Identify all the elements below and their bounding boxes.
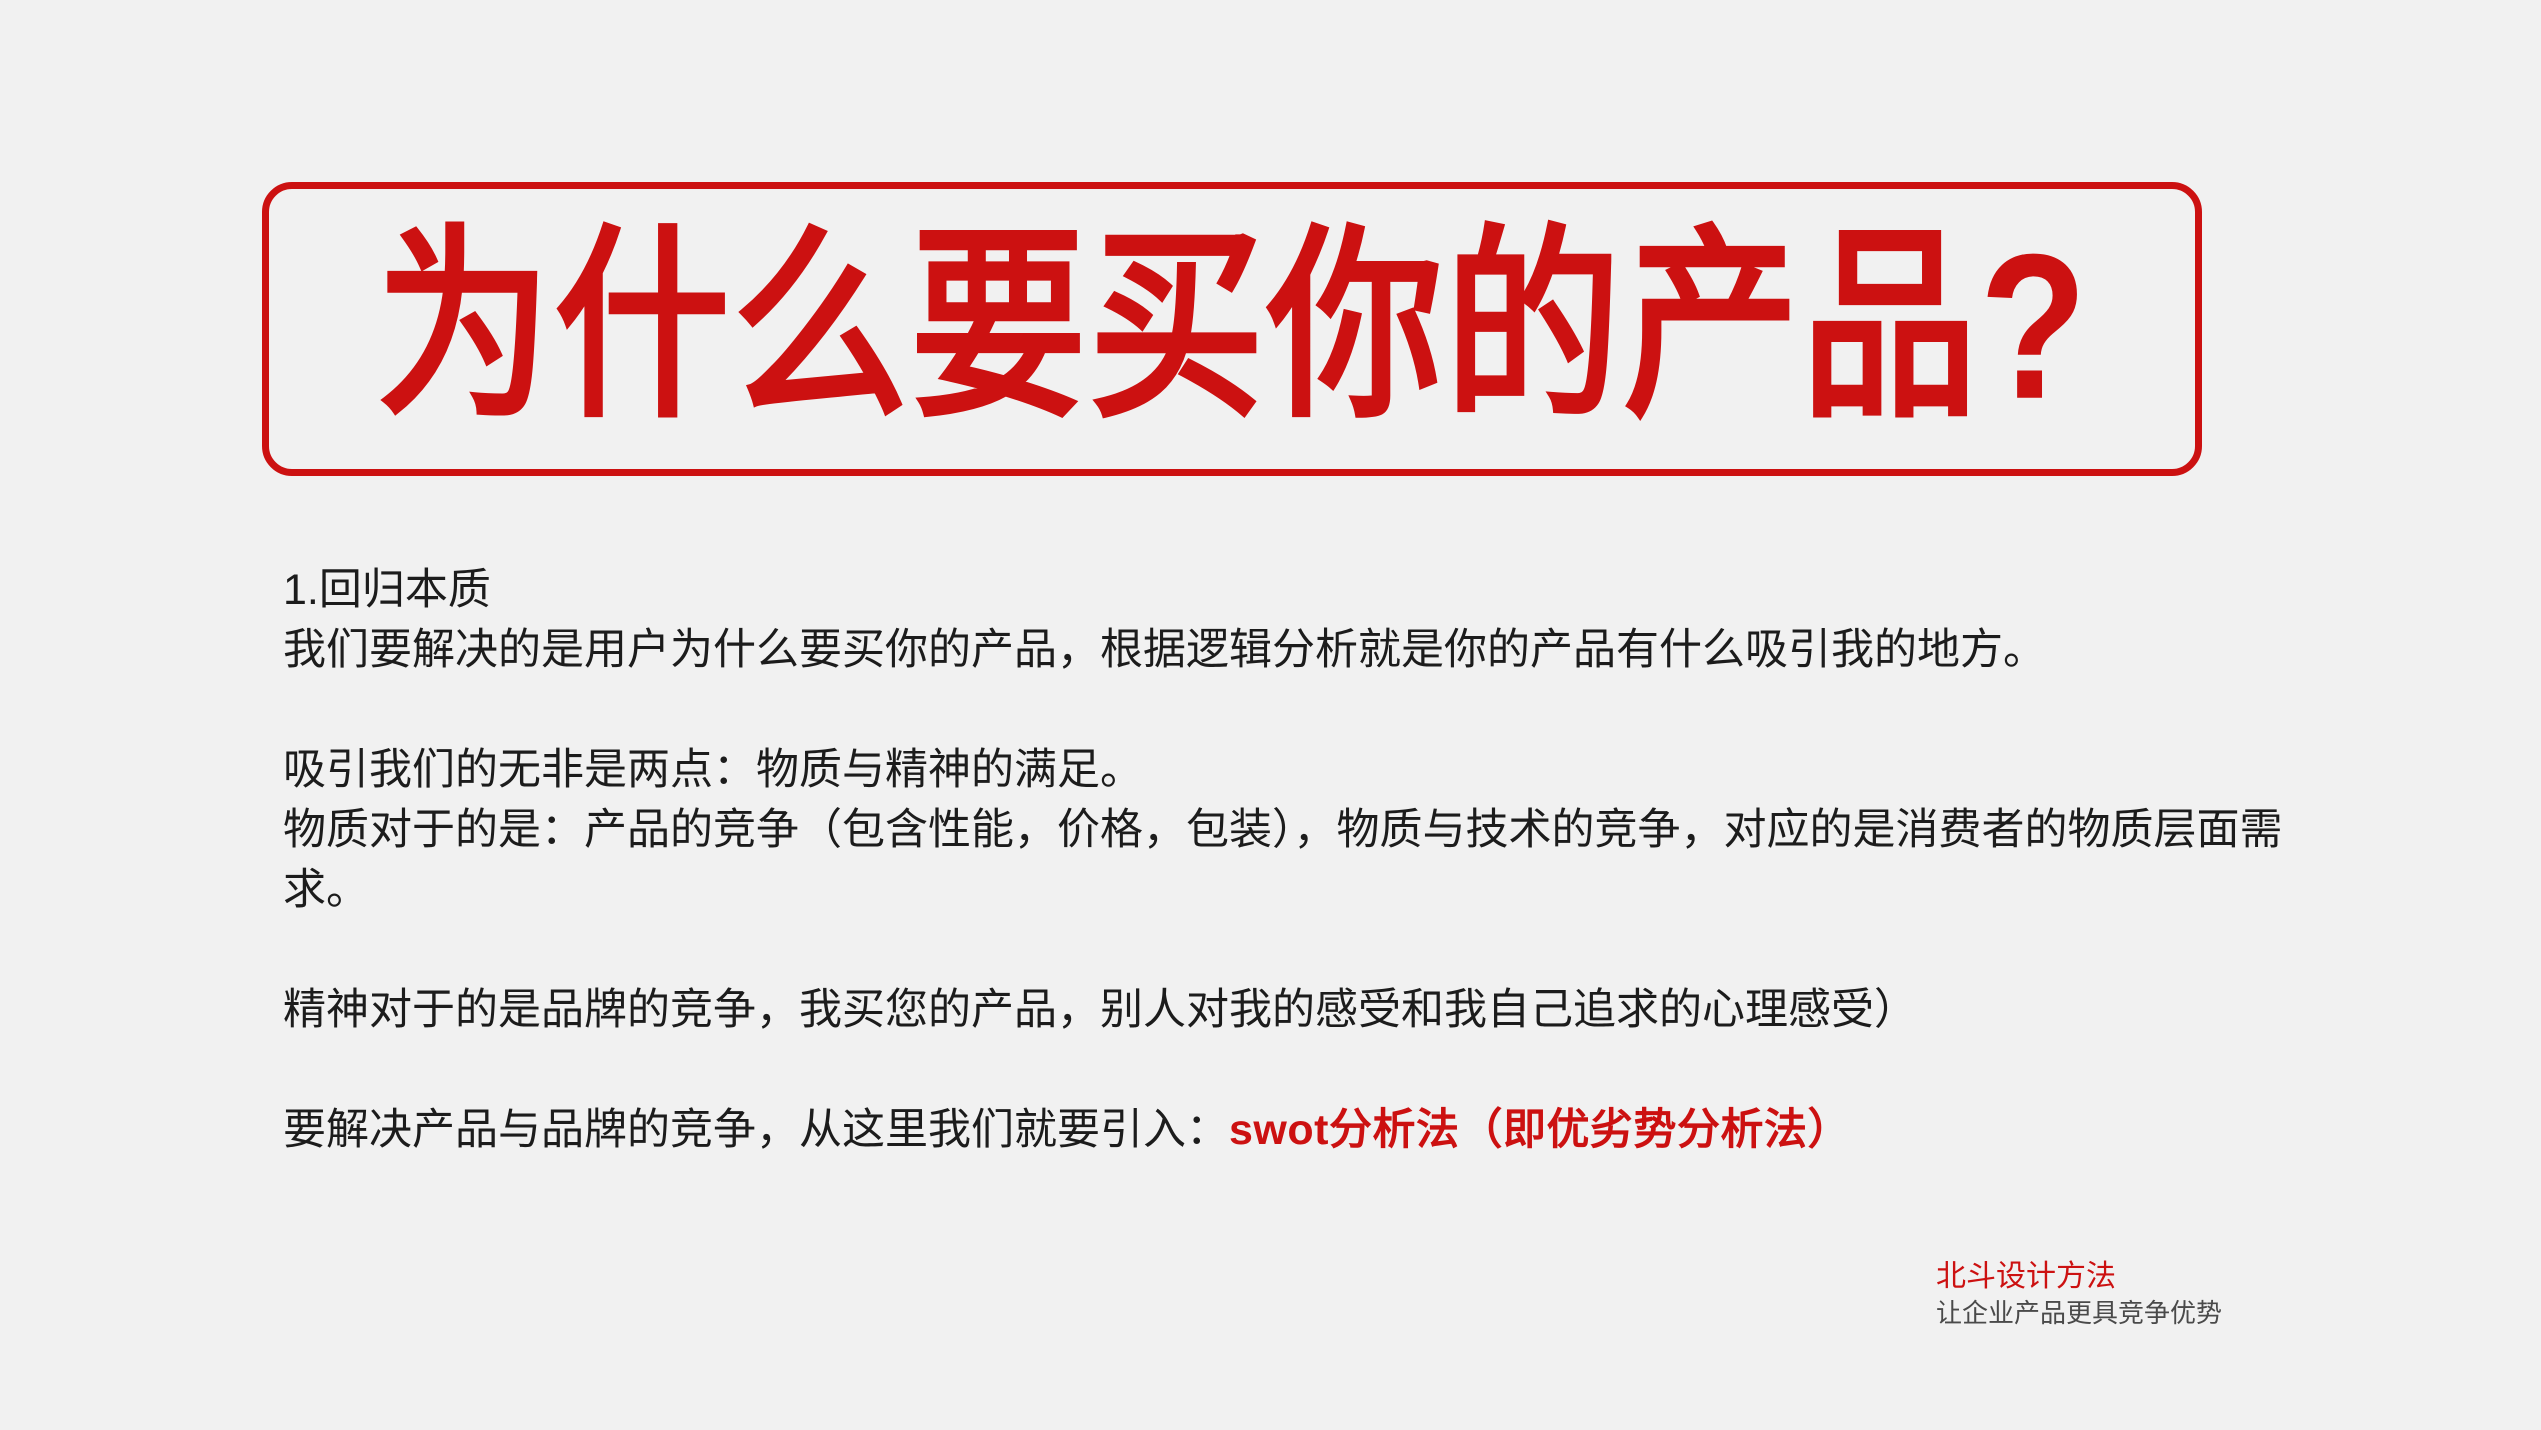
body-content: 1.回归本质 我们要解决的是用户为什么要买你的产品，根据逻辑分析就是你的产品有什… [283,560,2353,1160]
brand-tagline: 让企业产品更具竞争优势 [1936,1296,2356,1330]
paragraph-3-line-1: 精神对于的是品牌的竞争，我买您的产品，别人对我的感受和我自己追求的心理感受） [283,980,2353,1040]
paragraph-2-line-1: 吸引我们的无非是两点：物质与精神的满足。 [283,740,2353,800]
paragraph-1-line-2: 我们要解决的是用户为什么要买你的产品，根据逻辑分析就是你的产品有什么吸引我的地方… [283,620,2353,680]
paragraph-4-line-1: 要解决产品与品牌的竞争，从这里我们就要引入： [283,1106,1229,1154]
brand-name: 北斗设计方法 [1936,1258,2356,1296]
brand-lockup: 北斗设计方法 让企业产品更具竞争优势 [1936,1258,2356,1330]
paragraph-2-line-2: 物质对于的是：产品的竞争（包含性能，价格，包装），物质与技术的竞争，对应的是消费… [283,800,2353,920]
paragraph-1-line-1: 1.回归本质 [283,560,2353,620]
paragraph-1: 1.回归本质 我们要解决的是用户为什么要买你的产品，根据逻辑分析就是你的产品有什… [283,560,2353,680]
paragraph-3: 精神对于的是品牌的竞争，我买您的产品，别人对我的感受和我自己追求的心理感受） [283,980,2353,1040]
paragraph-4: 要解决产品与品牌的竞争，从这里我们就要引入：swot分析法（即优劣势分析法） [283,1100,2353,1160]
page-title: 为什么要买你的产品? [375,224,2088,430]
paragraph-2: 吸引我们的无非是两点：物质与精神的满足。 物质对于的是：产品的竞争（包含性能，价… [283,740,2353,920]
slide-root: 为什么要买你的产品? 1.回归本质 我们要解决的是用户为什么要买你的产品，根据逻… [0,0,2541,1430]
title-frame: 为什么要买你的产品? [262,182,2202,476]
swot-highlight: swot分析法（即优劣势分析法） [1229,1106,1851,1154]
